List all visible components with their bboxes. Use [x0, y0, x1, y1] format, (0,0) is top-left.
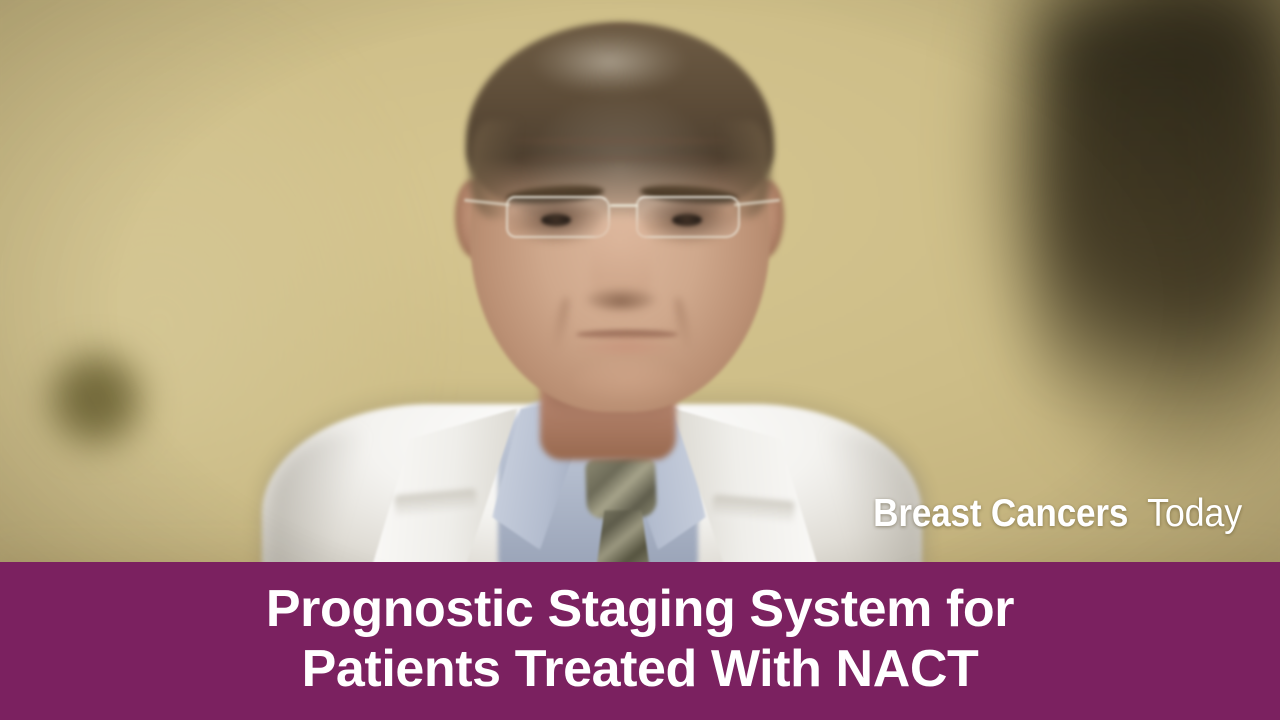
caption-line-2: Patients Treated With NACT [302, 639, 979, 699]
video-frame: Breast Cancers Today Prognostic Staging … [0, 0, 1280, 720]
brand-logo: Breast Cancers Today [859, 494, 1246, 533]
brand-logo-secondary: Today [1147, 494, 1242, 533]
caption-line-1: Prognostic Staging System for [266, 579, 1014, 639]
brand-logo-primary: Breast Cancers [873, 494, 1128, 533]
caption-banner: Prognostic Staging System for Patients T… [0, 562, 1280, 720]
